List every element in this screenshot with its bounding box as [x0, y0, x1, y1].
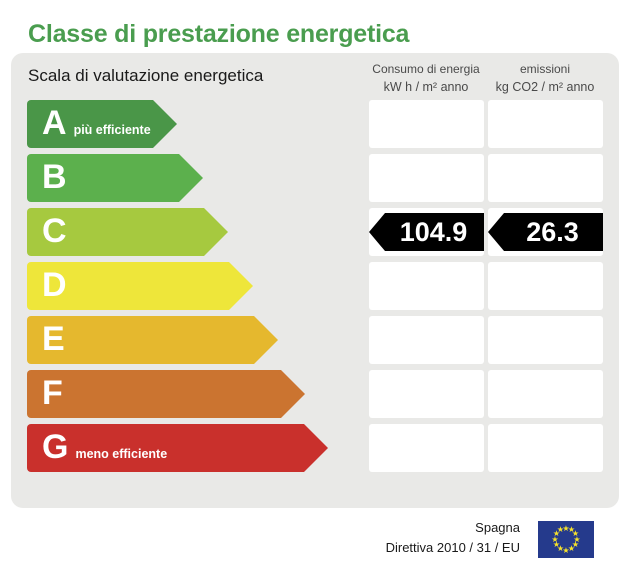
value-cell-energy	[369, 316, 484, 364]
band-e: E	[27, 316, 278, 364]
column-header-emission: emissioni kg CO2 / m² anno	[486, 60, 604, 96]
column-header-emission-line1: emissioni	[520, 62, 570, 76]
rating-row: B	[0, 154, 630, 202]
column-header-emission-line2: kg CO2 / m² anno	[486, 78, 604, 96]
eu-flag-icon: ★★★★★★★★★★★★	[538, 521, 594, 558]
band-c: C	[27, 208, 228, 256]
footer-country: Spagna	[260, 518, 520, 538]
rating-row: C104.926.3	[0, 208, 630, 256]
band-b: B	[27, 154, 203, 202]
column-header-energy-line1: Consumo di energia	[372, 62, 479, 76]
value-cell-emission	[488, 316, 603, 364]
value-badge-emission: 26.3	[488, 213, 603, 251]
value-cell-energy	[369, 424, 484, 472]
rating-row: Apiù efficiente	[0, 100, 630, 148]
eu-flag-star: ★	[557, 526, 564, 534]
value-cell-emission	[488, 100, 603, 148]
value-cell-emission	[488, 154, 603, 202]
scale-heading: Scala di valutazione energetica	[28, 66, 263, 86]
band-letter: F	[42, 376, 63, 410]
value-cell-emission	[488, 262, 603, 310]
band-f: F	[27, 370, 305, 418]
value-cell-energy	[369, 262, 484, 310]
column-header-energy: Consumo di energia kW h / m² anno	[367, 60, 485, 96]
footer-text: Spagna Direttiva 2010 / 31 / EU	[260, 518, 520, 558]
footer-directive: Direttiva 2010 / 31 / EU	[260, 538, 520, 558]
band-letter: E	[42, 322, 65, 356]
value-cell-emission	[488, 370, 603, 418]
band-sublabel: meno efficiente	[75, 447, 167, 461]
rating-row: D	[0, 262, 630, 310]
value-badge-energy: 104.9	[369, 213, 484, 251]
band-letter: D	[42, 268, 67, 302]
value-cell-energy	[369, 370, 484, 418]
rating-row: Gmeno efficiente	[0, 424, 630, 472]
band-a: Apiù efficiente	[27, 100, 177, 148]
rating-row: F	[0, 370, 630, 418]
band-letter: B	[42, 160, 67, 194]
band-d: D	[27, 262, 253, 310]
band-letter: A	[42, 106, 67, 140]
value-cell-emission	[488, 424, 603, 472]
band-sublabel: più efficiente	[74, 123, 151, 137]
value-cell-energy	[369, 100, 484, 148]
value-cell-energy	[369, 154, 484, 202]
energy-performance-certificate: Classe di prestazione energetica Scala d…	[0, 0, 630, 562]
rating-row: E	[0, 316, 630, 364]
band-g: Gmeno efficiente	[27, 424, 328, 472]
band-letter: C	[42, 214, 67, 248]
band-letter: G	[42, 430, 68, 464]
page-title: Classe di prestazione energetica	[28, 20, 409, 49]
column-header-energy-line2: kW h / m² anno	[367, 78, 485, 96]
